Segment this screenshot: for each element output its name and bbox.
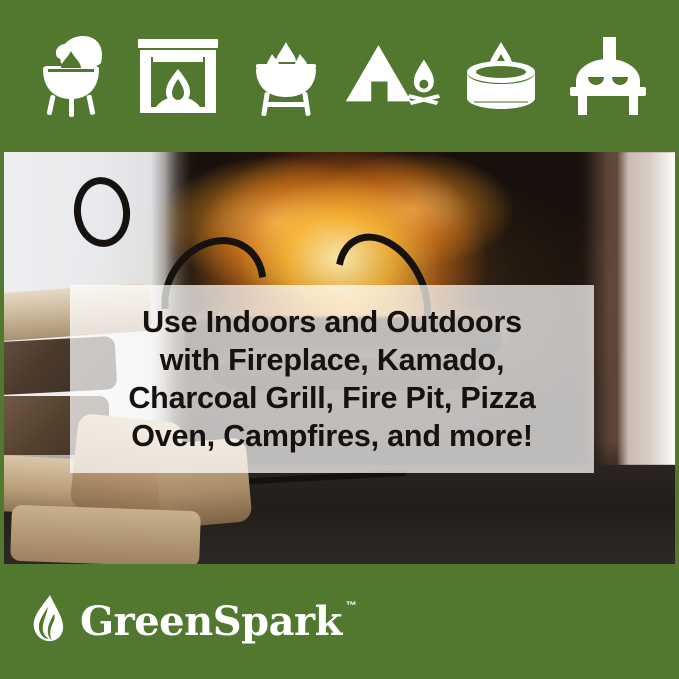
kamado-grill-icon bbox=[22, 28, 120, 124]
fire-pit-icon bbox=[452, 28, 550, 124]
photo-frame-left bbox=[0, 152, 4, 566]
headline-line-4: Oven, Campfires, and more! bbox=[131, 417, 533, 455]
headline-line-2: with Fireplace, Kamado, bbox=[160, 341, 505, 379]
flame-leaf-icon bbox=[30, 594, 66, 649]
pizza-oven-icon bbox=[559, 28, 657, 124]
use-case-icon-band bbox=[0, 0, 679, 152]
fireplace-icon bbox=[129, 28, 227, 124]
tent-campfire-icon bbox=[344, 28, 442, 124]
brand-name: GreenSpark bbox=[80, 598, 342, 645]
brand-logo-band: GreenSpark ™ bbox=[0, 564, 679, 679]
firewood-log bbox=[10, 505, 201, 564]
headline-line-3: Charcoal Grill, Fire Pit, Pizza bbox=[128, 379, 535, 417]
brand-wordmark: GreenSpark ™ bbox=[80, 602, 342, 642]
headline-line-1: Use Indoors and Outdoors bbox=[142, 303, 522, 341]
headline-panel: Use Indoors and Outdoors with Fireplace,… bbox=[70, 285, 594, 473]
trademark-symbol: ™ bbox=[346, 600, 357, 612]
product-feature-image: Use Indoors and Outdoors with Fireplace,… bbox=[0, 0, 679, 679]
fireplace-surround-right bbox=[618, 152, 676, 465]
photo-frame-right bbox=[675, 152, 679, 566]
charcoal-grill-icon bbox=[237, 28, 335, 124]
